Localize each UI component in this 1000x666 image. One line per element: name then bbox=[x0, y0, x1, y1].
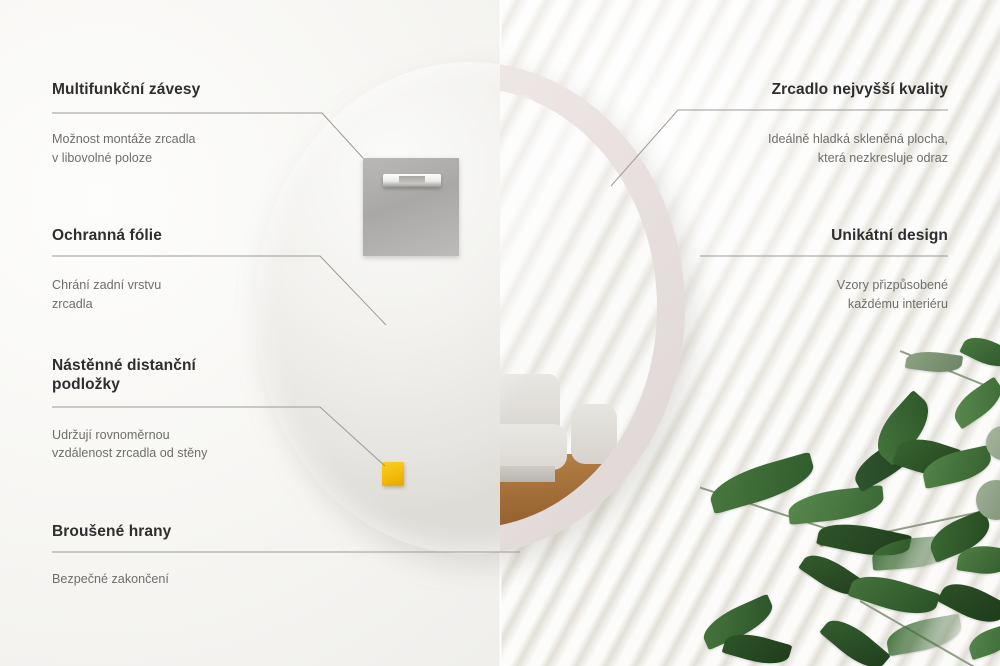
callout-brousene-hrany: Broušené hrany Bezpečné zakončení bbox=[52, 522, 322, 589]
callout-nastenne-distancni-podlozky: Nástěnné distanční podložky Udržují rovn… bbox=[52, 356, 322, 462]
callout-description-line2: každému interiéru bbox=[648, 295, 948, 313]
yellow-spacer-pad bbox=[382, 462, 404, 486]
hanger-slot-icon bbox=[383, 174, 441, 187]
callout-description-line2: která nezkresluje odraz bbox=[648, 149, 948, 167]
callout-ochranna-folie: Ochranná fólie Chrání zadní vrstvu zrcad… bbox=[52, 226, 322, 313]
glass-light-sheen bbox=[500, 88, 657, 528]
callout-description-line1: Udržují rovnoměrnou bbox=[52, 426, 322, 444]
hanger-plate bbox=[363, 158, 459, 256]
callout-description-line1: Vzory přizpůsobené bbox=[648, 276, 948, 294]
callout-title: Multifunkční závesy bbox=[52, 80, 322, 99]
callout-title: Zrcadlo nejvyšší kvality bbox=[648, 80, 948, 99]
callout-title: Ochranná fólie bbox=[52, 226, 322, 245]
mirror-glass bbox=[500, 88, 657, 528]
callout-title: Unikátní design bbox=[648, 226, 948, 245]
callout-description-line2: zrcadla bbox=[52, 295, 322, 313]
callout-title-line2: podložky bbox=[52, 375, 322, 394]
callout-description-line1: Možnost montáže zrcadla bbox=[52, 130, 322, 148]
callout-unikatni-design: Unikátní design Vzory přizpůsobené každé… bbox=[648, 226, 948, 313]
callout-multifunkcni-zavesy: Multifunkční závesy Možnost montáže zrca… bbox=[52, 80, 322, 167]
plant-foliage bbox=[700, 330, 1000, 666]
callout-description-line1: Ideálně hladká skleněná plocha, bbox=[648, 130, 948, 148]
callout-title: Broušené hrany bbox=[52, 522, 322, 541]
callout-description-line1: Chrání zadní vrstvu bbox=[52, 276, 322, 294]
callout-title-line1: Nástěnné distanční bbox=[52, 356, 322, 375]
callout-description-line2: vzdálenost zrcadla od stěny bbox=[52, 444, 322, 462]
callout-description-line2: v libovolné poloze bbox=[52, 149, 322, 167]
infographic-canvas: Multifunkční závesy Možnost montáže zrca… bbox=[0, 0, 1000, 666]
callout-zrcadlo-nejvyssi-kvality: Zrcadlo nejvyšší kvality Ideálně hladká … bbox=[648, 80, 948, 167]
callout-description-line1: Bezpečné zakončení bbox=[52, 570, 322, 588]
